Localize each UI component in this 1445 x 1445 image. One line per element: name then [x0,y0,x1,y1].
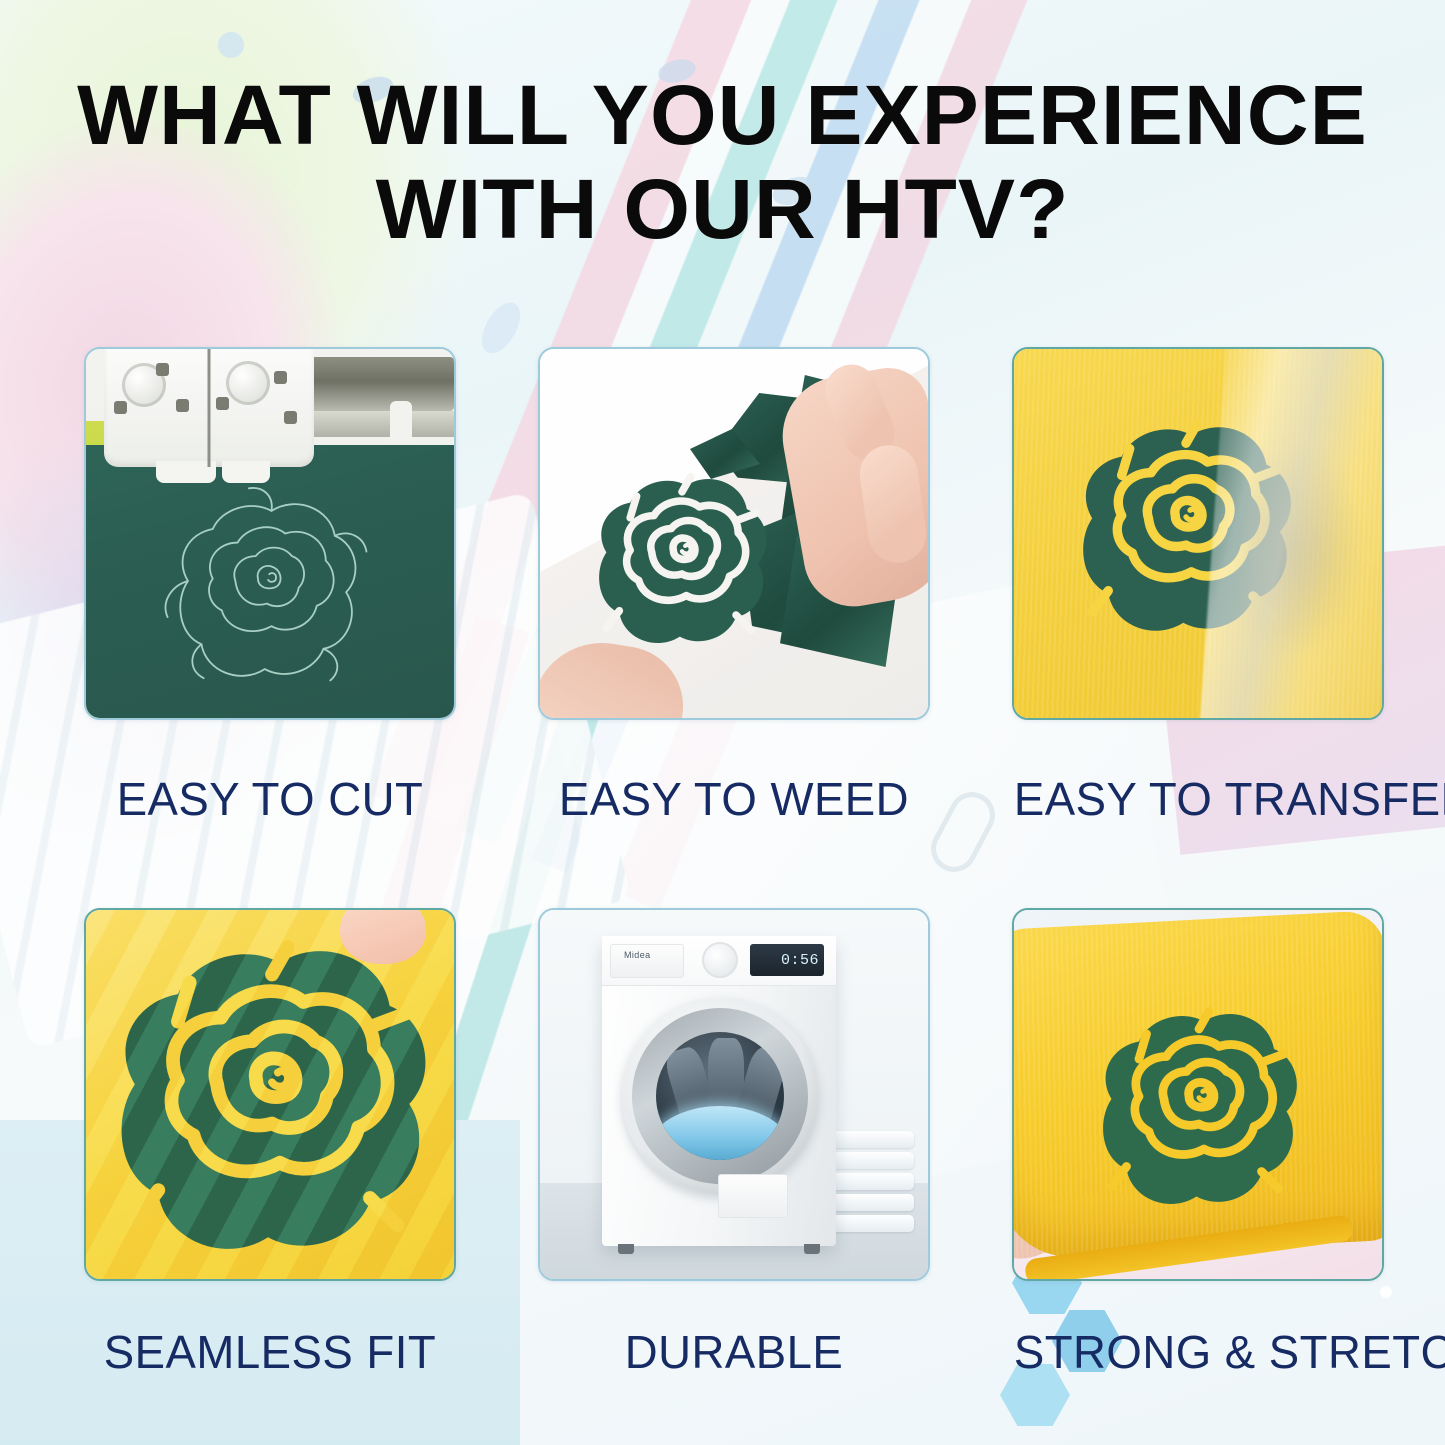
caption-easy-to-transfer: EASY TO TRANSFER [1014,772,1382,826]
feature-row-bottom: SEAMLESS FIT Midea [84,908,1384,1379]
caption-easy-to-weed: EASY TO WEED [540,772,928,826]
filter-hatch[interactable] [718,1174,788,1218]
machine-rail [296,357,454,411]
rose-decal-green [574,453,790,669]
carriage-screw [216,397,229,410]
caption-durable: DURABLE [540,1325,928,1379]
carriage-screw [274,371,287,384]
feature-row-top: 12 34 [84,347,1384,826]
carriage-screw [114,401,127,414]
blade-holder-right [226,361,270,405]
feature-cell-seamless-fit: SEAMLESS FIT [84,908,456,1379]
feature-cell-durable: Midea 0:56 [538,908,930,1379]
feature-cell-easy-to-weed: EASY TO WEED [538,347,930,826]
panel-durable[interactable]: Midea 0:56 [538,908,930,1281]
panel-easy-to-weed[interactable] [538,347,930,720]
panel-seamless-fit[interactable] [84,908,456,1281]
carriage-screw [176,399,189,412]
carriage-foot-left [156,461,216,483]
machine-display: 0:56 [750,944,824,976]
title-line-1: WHAT WILL YOU EXPERIENCE [0,68,1445,162]
caption-easy-to-cut: EASY TO CUT [86,772,454,826]
door-inner-ring [632,1008,808,1184]
rose-outline-cut-path [154,477,380,703]
carriage-foot-right [222,461,270,483]
fabric-sheen [86,910,454,1279]
carriage-screw [284,411,297,424]
rose-decal-green [1074,984,1324,1234]
caption-seamless-fit: SEAMLESS FIT [86,1325,454,1379]
fingertip [340,908,426,964]
carriage-screw [156,363,169,376]
feature-grid: 12 34 [84,347,1384,1379]
feature-cell-strong-and-stretchy: STRONG & STRETCHY [1012,908,1384,1379]
control-panel: Midea 0:56 [602,936,836,986]
machine-rail-lower [296,411,454,437]
machine-foot [804,1244,820,1254]
background-confetti-dot [218,32,244,58]
panel-easy-to-transfer[interactable] [1012,347,1384,720]
door-glass [656,1032,784,1160]
brand-label: Midea [624,950,651,960]
washing-machine[interactable]: Midea 0:56 [602,936,836,1246]
program-dial[interactable] [702,942,738,978]
transfer-carrier-sheet[interactable] [1198,347,1384,720]
display-time: 0:56 [781,952,819,969]
cutter-carriage [104,349,314,467]
title-line-2: WITH OUR HTV? [0,162,1445,256]
door-outer-ring [622,998,818,1194]
panel-strong-and-stretchy[interactable] [1012,908,1384,1281]
feature-cell-easy-to-cut: 12 34 [84,347,456,826]
machine-rail-clip [390,401,412,443]
machine-foot [618,1244,634,1254]
feature-cell-easy-to-transfer: EASY TO TRANSFER [1012,347,1384,826]
page-title: WHAT WILL YOU EXPERIENCE WITH OUR HTV? [0,68,1445,256]
caption-strong-and-stretchy: STRONG & STRETCHY [1014,1325,1382,1379]
panel-easy-to-cut[interactable]: 12 34 [84,347,456,720]
